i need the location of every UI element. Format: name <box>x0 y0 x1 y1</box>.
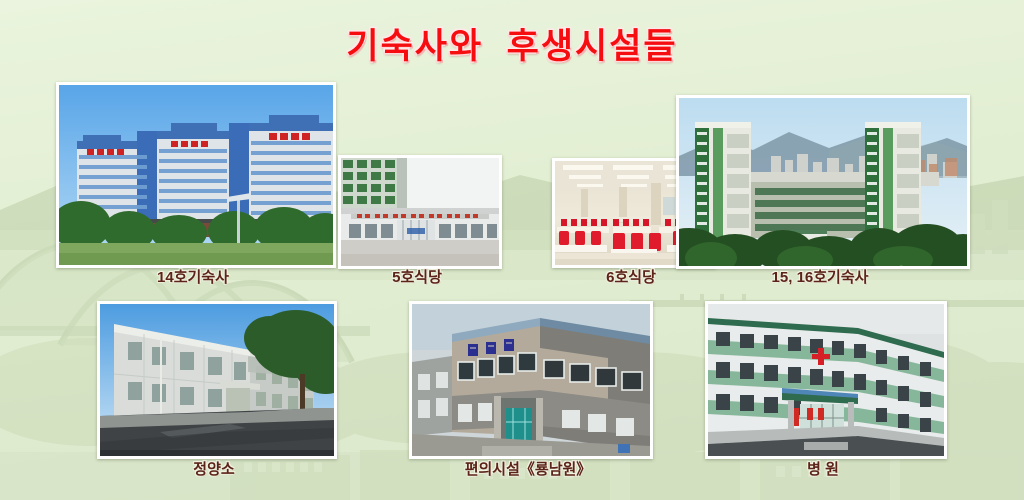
caption-amenity-rongnamwon: 편의시설《룡남원》 <box>409 458 647 479</box>
slide-title: 기숙사와 후생시설들 <box>0 18 1024 69</box>
photo-dormitory-15-16[interactable] <box>676 95 970 269</box>
photo-canteen-5-image <box>341 158 499 266</box>
photo-dormitory-15-16-image <box>679 98 967 266</box>
caption-dormitory-14: 14호기숙사 <box>56 266 330 287</box>
caption-dormitory-15-16: 15, 16호기숙사 <box>676 266 964 287</box>
photo-hospital-image <box>708 304 944 456</box>
photo-canteen-5[interactable] <box>338 155 502 269</box>
photo-hospital[interactable] <box>705 301 947 459</box>
photo-dormitory-14-image <box>59 85 333 265</box>
caption-hospital: 병 원 <box>705 458 941 479</box>
photo-amenity-rongnamwon[interactable] <box>409 301 653 459</box>
caption-sanatorium: 정양소 <box>97 458 331 479</box>
photo-sanatorium[interactable] <box>97 301 337 459</box>
photo-dormitory-14[interactable] <box>56 82 336 268</box>
photo-amenity-rongnamwon-image <box>412 304 650 456</box>
photo-sanatorium-image <box>100 304 334 456</box>
slide-canvas: 기숙사와 후생시설들 <box>0 0 1024 500</box>
caption-canteen-5: 5호식당 <box>338 266 496 287</box>
